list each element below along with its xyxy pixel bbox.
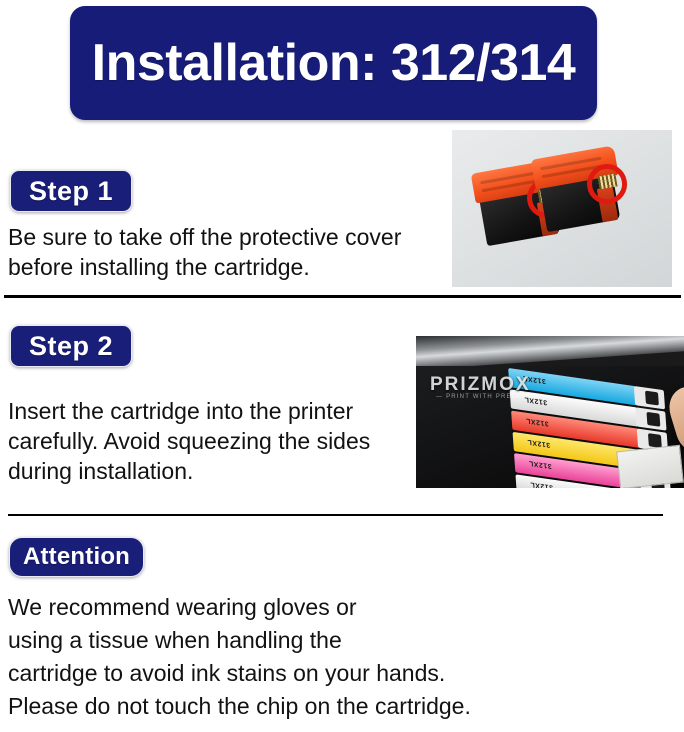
step-2-line-1: Insert the cartridge into the printer bbox=[8, 396, 370, 426]
ink-slot-red-label: 312XL bbox=[525, 417, 549, 427]
step-2-badge: Step 2 bbox=[10, 325, 132, 367]
attention-line-3: cartridge to avoid ink stains on your ha… bbox=[8, 657, 471, 690]
step-2-line-2: carefully. Avoid squeezing the sides bbox=[8, 426, 370, 456]
printed-manual-sheet bbox=[616, 445, 684, 488]
step-2-photo-printer: 312XL 312XL 312XL 312XL 312XL bbox=[416, 336, 684, 488]
attention-badge-label: Attention bbox=[23, 545, 130, 569]
attention-text: We recommend wearing gloves or using a t… bbox=[8, 591, 471, 723]
step-2-badge-label: Step 2 bbox=[29, 333, 113, 360]
installation-guide-page: Installation: 312/314 Step 1 Be sure to … bbox=[0, 0, 684, 732]
ink-slot-black-label: 312XL bbox=[530, 480, 554, 488]
ink-slot-grey-label: 312XL bbox=[524, 395, 548, 405]
step-1-line-1: Be sure to take off the protective cover bbox=[8, 222, 401, 252]
section-divider-2 bbox=[8, 514, 663, 516]
step-1-badge-label: Step 1 bbox=[29, 178, 113, 205]
attention-line-2: using a tissue when handling the bbox=[8, 624, 471, 657]
step-1-line-2: before installing the cartridge. bbox=[8, 252, 401, 282]
ink-slot-cyan-glyph-icon bbox=[645, 391, 659, 406]
ink-slot-cyan-label: 312XL bbox=[522, 374, 546, 384]
step-1-photo-cartridges bbox=[452, 130, 672, 287]
ink-slot-magenta-label: 312XL bbox=[528, 459, 552, 469]
step-2-line-3: during installation. bbox=[8, 456, 370, 486]
ink-slot-yellow-label: 312XL bbox=[527, 438, 551, 448]
page-title: Installation: 312/314 bbox=[92, 37, 576, 89]
step-2-text: Insert the cartridge into the printer ca… bbox=[8, 396, 370, 486]
step-1-badge: Step 1 bbox=[10, 170, 132, 212]
ink-slot-grey-glyph-icon bbox=[646, 412, 660, 427]
printer-lid bbox=[416, 336, 684, 370]
step-1-text: Be sure to take off the protective cover… bbox=[8, 222, 401, 282]
attention-line-4: Please do not touch the chip on the cart… bbox=[8, 690, 471, 723]
section-divider-1 bbox=[4, 295, 681, 298]
attention-badge: Attention bbox=[9, 537, 144, 577]
header-banner: Installation: 312/314 bbox=[70, 6, 597, 120]
attention-line-1: We recommend wearing gloves or bbox=[8, 591, 471, 624]
